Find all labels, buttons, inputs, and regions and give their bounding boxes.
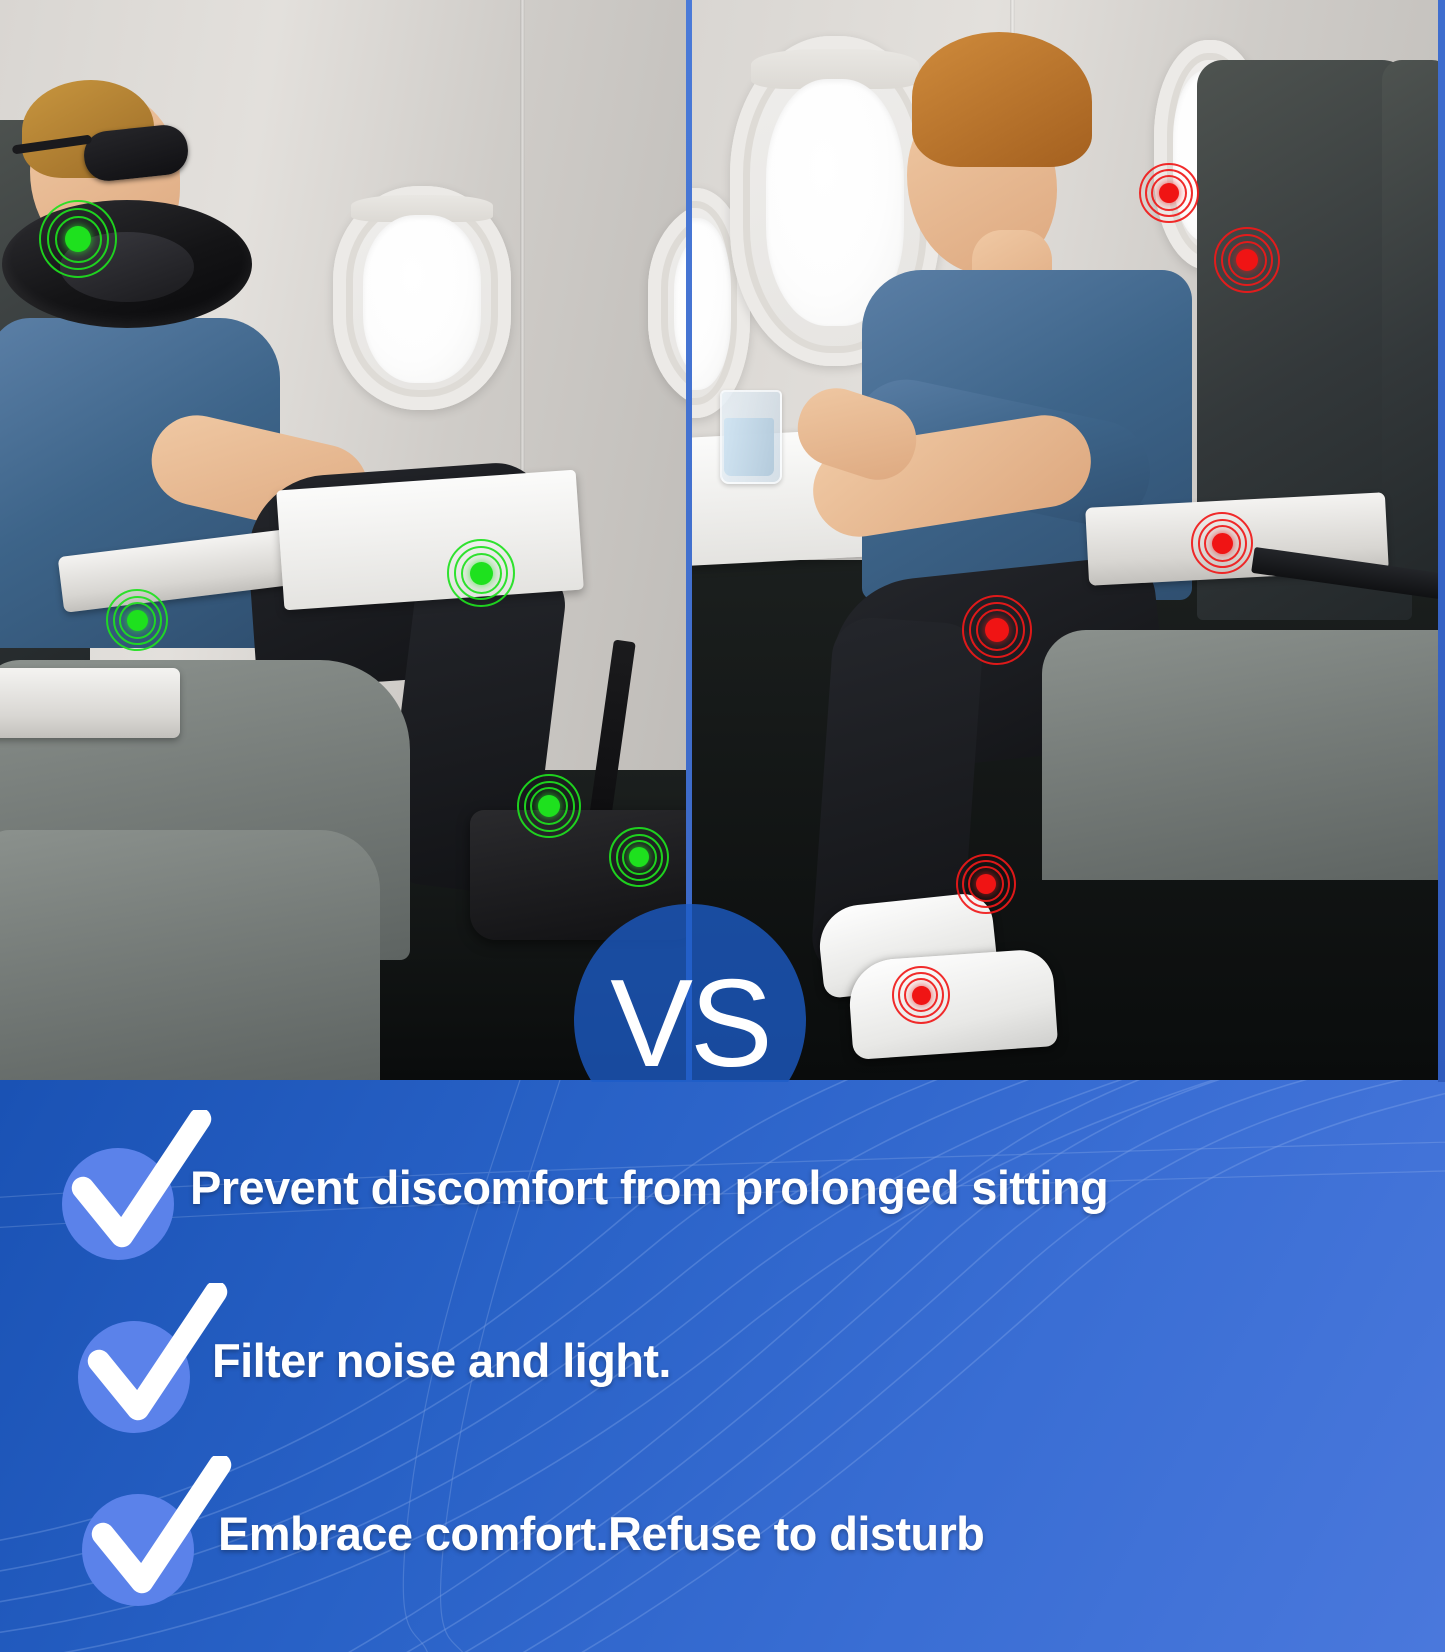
relief-marker-elbow — [108, 591, 166, 649]
pain-marker-neck — [1141, 165, 1197, 221]
pain-marker-foot — [894, 968, 948, 1022]
benefit-item-3: Embrace comfort.Refuse to disturb — [0, 1448, 1445, 1618]
pain-marker-ankle — [958, 856, 1014, 912]
cabin-window-left — [333, 186, 511, 410]
relief-marker-foot-strap — [519, 776, 579, 836]
benefit-label-3: Embrace comfort.Refuse to disturb — [218, 1506, 984, 1561]
check-badge-1 — [0, 1102, 190, 1272]
benefit-label-1: Prevent discomfort from prolonged sittin… — [190, 1160, 1108, 1215]
relief-marker-neck — [41, 202, 115, 276]
airplane-cabin-right — [692, 0, 1445, 1082]
comfortable-passenger-photo — [0, 0, 688, 1082]
relief-marker-foot-sling — [611, 829, 667, 885]
uncomfortable-passenger-photo — [692, 0, 1445, 1082]
product-comparison-graphic: VS — [0, 0, 1445, 1652]
seat-base-left — [0, 830, 380, 1082]
window-glass — [692, 218, 731, 391]
check-icon — [78, 1283, 228, 1433]
before-after-comparison: VS — [0, 0, 1445, 1082]
check-badge-2 — [0, 1275, 212, 1445]
check-badge-3 — [0, 1448, 218, 1618]
check-icon — [62, 1110, 212, 1260]
airplane-cabin-left — [0, 0, 688, 1082]
pain-marker-shoulder — [1216, 229, 1278, 291]
benefit-label-2: Filter noise and light. — [212, 1333, 671, 1388]
check-icon — [82, 1456, 232, 1606]
water-in-glass — [724, 418, 774, 476]
seat-back-right-side — [1382, 60, 1445, 580]
seat-cushion-right — [1042, 630, 1445, 880]
window-glass — [363, 215, 481, 383]
pain-marker-elbow — [1193, 514, 1251, 572]
right-edge-accent — [1438, 0, 1445, 1082]
tray-table-left — [276, 470, 584, 611]
sneaker-front — [847, 948, 1058, 1060]
benefit-item-2: Filter noise and light. — [0, 1275, 1445, 1445]
pain-marker-knee — [964, 597, 1030, 663]
armrest-left — [0, 668, 180, 738]
benefit-item-1: Prevent discomfort from prolonged sittin… — [0, 1102, 1445, 1272]
benefits-panel: Prevent discomfort from prolonged sittin… — [0, 1080, 1445, 1652]
relief-marker-knee — [449, 541, 513, 605]
vs-label: VS — [610, 962, 769, 1082]
passenger-hair-right — [912, 32, 1092, 167]
